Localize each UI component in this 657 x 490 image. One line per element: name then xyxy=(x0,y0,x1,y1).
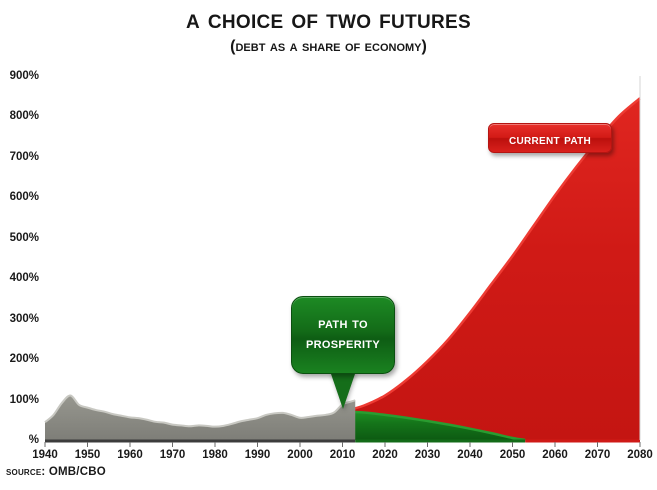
x-tick-label: 2060 xyxy=(535,448,575,462)
annotation-path-to-prosperity: Path to Prosperity xyxy=(291,296,395,374)
x-tick-label: 1980 xyxy=(195,448,235,462)
x-tick-label: 2010 xyxy=(323,448,363,462)
annotation-current-path: Current Path xyxy=(488,123,612,153)
annotation-prosperity-line2: Prosperity xyxy=(292,334,394,354)
x-tick-label: 2080 xyxy=(620,448,657,462)
annotation-prosperity-tail xyxy=(330,371,356,409)
x-tick-label: 1960 xyxy=(110,448,150,462)
x-tick-label: 2030 xyxy=(408,448,448,462)
source-label: Source: xyxy=(6,466,45,478)
x-tick-label: 2020 xyxy=(365,448,405,462)
plot-area xyxy=(0,0,657,490)
annotation-prosperity-line1: Path to xyxy=(292,314,394,334)
x-tick-label: 2000 xyxy=(280,448,320,462)
x-tick-label: 1950 xyxy=(68,448,108,462)
chart-container: A Choice of Two Futures (Debt as a Share… xyxy=(0,0,657,490)
x-tick-label: 2050 xyxy=(493,448,533,462)
source-value: OMB/CBO xyxy=(49,466,106,478)
x-tick-label: 2040 xyxy=(450,448,490,462)
x-tick-label: 1990 xyxy=(238,448,278,462)
source-note: Source: OMB/CBO xyxy=(6,466,106,478)
x-tick-label: 1940 xyxy=(25,448,65,462)
x-tick-label: 2070 xyxy=(578,448,618,462)
x-axis: 1940195019601970198019902000201020202030… xyxy=(0,448,657,468)
x-tick-label: 1970 xyxy=(153,448,193,462)
